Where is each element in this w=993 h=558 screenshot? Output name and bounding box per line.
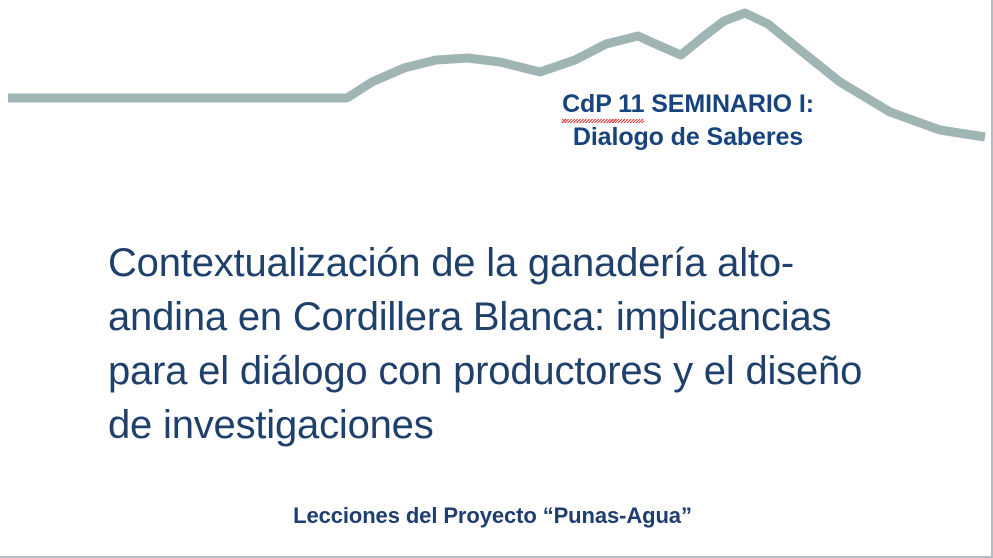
presentation-slide: CdP 11 SEMINARIO I: Dialogo de Saberes C…	[0, 0, 993, 558]
title-line-2: andina en Cordillera Blanca: implicancia…	[108, 290, 908, 344]
header-line-1-rest: SEMINARIO I:	[644, 90, 814, 118]
title-line-1: Contextualización de la ganadería alto-	[108, 236, 908, 290]
subtitle-text: Lecciones del Proyecto “Punas-Agua”	[293, 503, 692, 528]
slide-title: Contextualización de la ganadería alto- …	[108, 236, 908, 452]
slide-subtitle: Lecciones del Proyecto “Punas-Agua”	[0, 503, 985, 529]
header-line-2: Dialogo de Saberes	[440, 121, 936, 154]
header-line-1: CdP 11 SEMINARIO I:	[440, 88, 936, 121]
title-line-3: para el diálogo con productores y el dis…	[108, 344, 908, 398]
spellcheck-underlined-text: CdP 11	[562, 88, 644, 121]
slide-header: CdP 11 SEMINARIO I: Dialogo de Saberes	[440, 88, 936, 153]
title-line-4: de investigaciones	[108, 398, 908, 452]
